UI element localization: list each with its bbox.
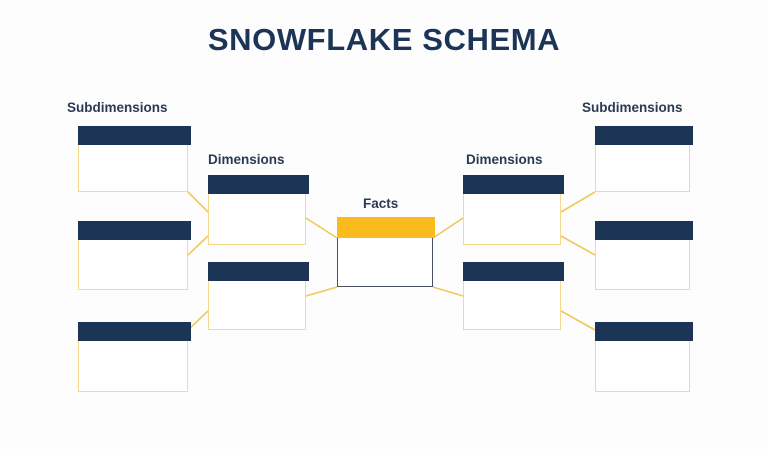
entity-header-bar bbox=[595, 126, 693, 145]
entity-box-facts[interactable] bbox=[337, 217, 433, 287]
entity-header-bar bbox=[463, 262, 564, 281]
entity-box-sub-l3[interactable] bbox=[78, 322, 188, 392]
entity-box-sub-l1[interactable] bbox=[78, 126, 188, 192]
entity-box-sub-r1[interactable] bbox=[595, 126, 690, 192]
group-label-dimensions-right: Dimensions bbox=[466, 152, 543, 167]
entity-box-dim-r1[interactable] bbox=[463, 175, 561, 245]
entity-header-bar bbox=[78, 322, 191, 341]
connector-line bbox=[433, 287, 463, 296]
entity-header-bar bbox=[595, 221, 693, 240]
entity-box-sub-r3[interactable] bbox=[595, 322, 690, 392]
entity-box-dim-r2[interactable] bbox=[463, 262, 561, 330]
entity-box-dim-l2[interactable] bbox=[208, 262, 306, 330]
entity-header-bar bbox=[337, 217, 436, 238]
connector-line bbox=[188, 236, 208, 255]
entity-box-dim-l1[interactable] bbox=[208, 175, 306, 245]
diagram-canvas: SNOWFLAKE SCHEMA SubdimensionsDimensions… bbox=[0, 0, 768, 449]
entity-header-bar bbox=[78, 126, 191, 145]
group-label-subdimensions-left: Subdimensions bbox=[67, 100, 168, 115]
entity-header-bar bbox=[78, 221, 191, 240]
connector-line bbox=[188, 311, 208, 330]
group-label-subdimensions-right: Subdimensions bbox=[582, 100, 683, 115]
connector-line bbox=[188, 192, 208, 212]
connector-line bbox=[561, 236, 595, 255]
entity-header-bar bbox=[208, 262, 309, 281]
connector-line bbox=[433, 218, 463, 238]
entity-header-bar bbox=[463, 175, 564, 194]
entity-box-sub-r2[interactable] bbox=[595, 221, 690, 290]
connector-line bbox=[561, 311, 595, 330]
connector-line bbox=[306, 218, 337, 238]
connector-line bbox=[561, 192, 595, 212]
entity-header-bar bbox=[208, 175, 309, 194]
entity-header-bar bbox=[595, 322, 693, 341]
group-label-dimensions-left: Dimensions bbox=[208, 152, 285, 167]
entity-box-sub-l2[interactable] bbox=[78, 221, 188, 290]
connector-line bbox=[306, 287, 337, 296]
group-label-facts-center: Facts bbox=[363, 196, 398, 211]
